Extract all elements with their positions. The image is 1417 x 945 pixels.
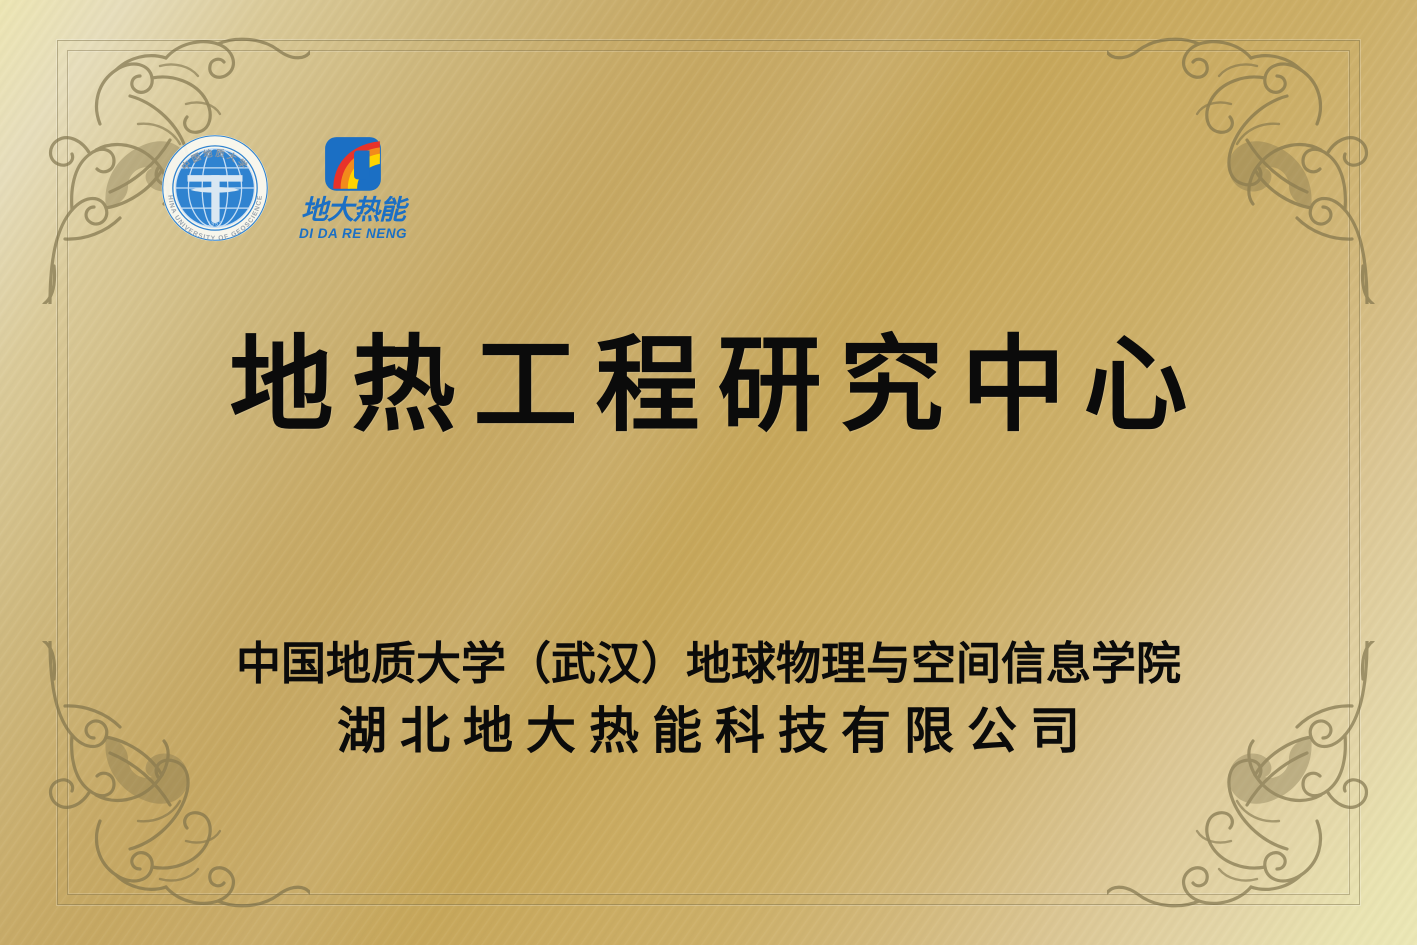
logo-row: 中国地质大学 CHINA UNIVERSITY OF GEOSCIENCES 1… — [160, 133, 418, 243]
plaque-content: 中国地质大学 CHINA UNIVERSITY OF GEOSCIENCES 1… — [0, 0, 1417, 945]
page-title: 地热工程研究中心 — [0, 328, 1417, 444]
svg-text:1952: 1952 — [208, 222, 222, 228]
organization-names: 中国地质大学（武汉）地球物理与空间信息学院 湖北地大热能科技有限公司 — [0, 636, 1417, 763]
didareneng-rainbow-mark-icon — [322, 136, 384, 196]
plaque-board: 中国地质大学 CHINA UNIVERSITY OF GEOSCIENCES 1… — [0, 0, 1417, 945]
didareneng-name-cn: 地大热能 — [301, 197, 405, 224]
didareneng-name-pinyin: DI DA RE NENG — [299, 227, 407, 241]
organization-line-2: 湖北地大热能科技有限公司 — [0, 700, 1417, 763]
cug-globe-seal-icon: 中国地质大学 CHINA UNIVERSITY OF GEOSCIENCES 1… — [160, 133, 270, 243]
didareneng-logo: 地大热能 DI DA RE NENG — [288, 136, 418, 241]
organization-line-1: 中国地质大学（武汉）地球物理与空间信息学院 — [0, 636, 1417, 692]
